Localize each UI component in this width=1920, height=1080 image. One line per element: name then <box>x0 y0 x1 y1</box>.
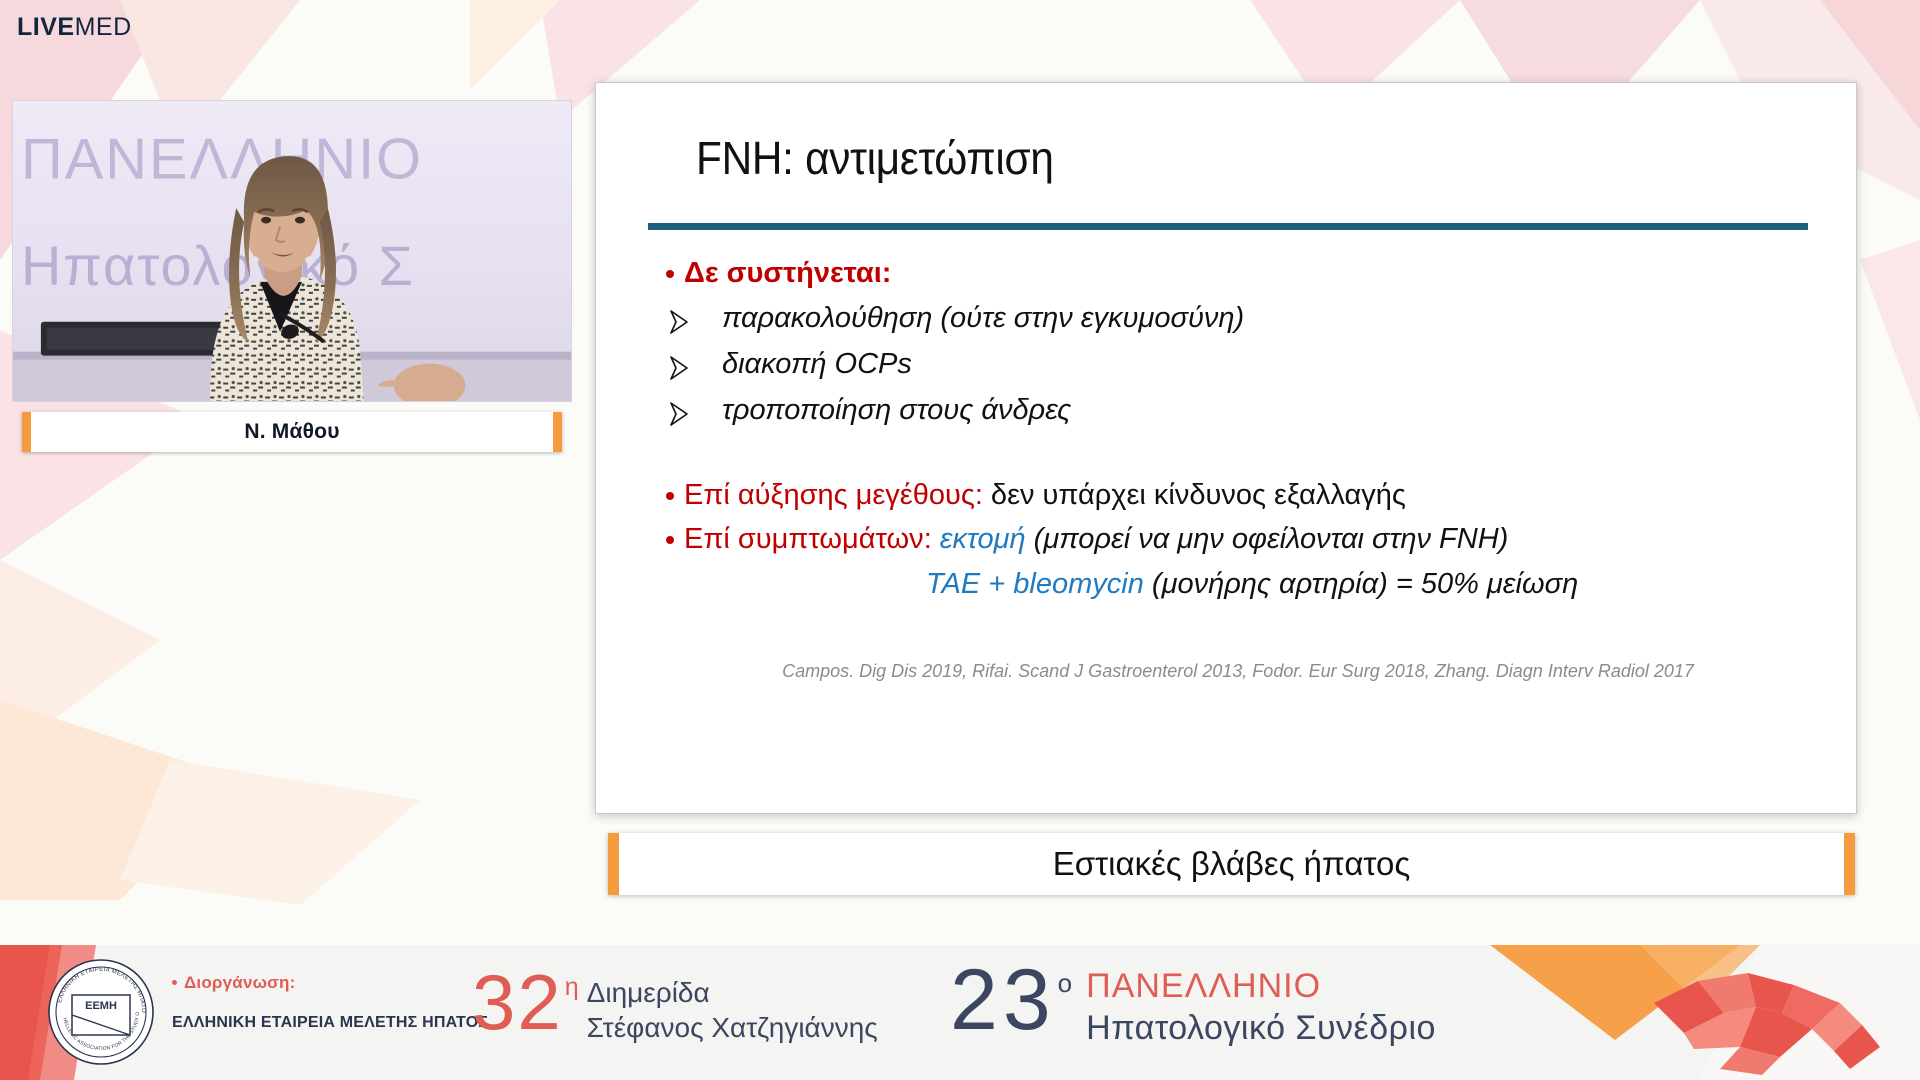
speaker-name: Ν. Μάθου <box>244 420 339 444</box>
event-32-text: Διημερίδα Στέφανος Χατζηγιάννης <box>587 975 878 1045</box>
speaker-video-frame: ΠΑΝΕΛΛΗΝΙΟ Ηπατολογικό Σ <box>13 101 571 401</box>
organizer-label: Διοργάνωση: <box>172 973 488 993</box>
speaker-nameplate: Ν. Μάθου <box>22 412 562 452</box>
brand-logo-live: LIVE <box>17 13 75 41</box>
organizer-label-text: Διοργάνωση: <box>184 973 295 992</box>
svg-text:Ηπατολογικό Σ: Ηπατολογικό Σ <box>21 234 415 297</box>
svg-text:ΕΕΜΗ: ΕΕΜΗ <box>85 1000 117 1012</box>
bullet-lead-text: Επί συμπτωμάτων <box>684 523 924 555</box>
bullet-lead-text: Επί αύξησης μεγέθους <box>684 479 975 511</box>
bullet-continuation: TAE + bleomycin (μονήρης αρτηρία) = 50% … <box>596 561 1856 607</box>
event-32-line2: Στέφανος Χατζηγιάννης <box>587 1010 878 1045</box>
organizer-block: Διοργάνωση: ΕΛΛΗΝΙΚΗ ΕΤΑΙΡΕΙΑ ΜΕΛΕΤΗΣ ΗΠ… <box>172 973 488 1032</box>
bullet-colon: : <box>882 257 892 289</box>
bullet-colon: : <box>924 523 932 555</box>
bullet-sub: τροποποίηση στους άνδρες <box>596 387 1856 433</box>
event-23-line1: ΠΑΝΕΛΛΗΝΙΟ <box>1086 965 1436 1007</box>
bullet-primary: Επί αύξησης μεγέθους: δεν υπάρχει κίνδυν… <box>596 473 1856 517</box>
bullet-rest-text: (μπορεί να μην οφείλονται στην FNH) <box>1026 523 1509 555</box>
brand-logo-med: MED <box>75 13 132 41</box>
bullet-colon: : <box>975 479 983 511</box>
event-23-number: 23 <box>950 961 1056 1040</box>
event-23-text: ΠΑΝΕΛΛΗΝΙΟ Ηπατολογικό Συνέδριο <box>1086 965 1436 1049</box>
arrow-bullet-icon <box>668 303 690 329</box>
section-banner-title: Εστιακές βλάβες ήπατος <box>1053 845 1411 883</box>
organizer-bullet-icon <box>172 980 177 985</box>
bullet-lead-text: Δε συστήνεται <box>684 257 882 289</box>
arrow-bullet-icon <box>668 395 690 421</box>
bullet-rest-text: δεν υπάρχει κίνδυνος εξαλλαγής <box>983 479 1406 511</box>
slide-citation: Campos. Dig Dis 2019, Rifai. Scand J Gas… <box>658 661 1818 682</box>
brand-logo: LIVEMED <box>17 15 132 40</box>
vertical-spacer <box>596 433 1856 473</box>
bullet-highlight-text: εκτομή <box>932 523 1026 555</box>
liver-illustration-icon <box>1644 951 1894 1076</box>
bullet-dot-icon <box>666 492 674 500</box>
event-23-superscript: ο <box>1058 968 1072 999</box>
event-23: 23 ο ΠΑΝΕΛΛΗΝΙΟ Ηπατολογικό Συνέδριο <box>950 961 1436 1049</box>
title-underline-rule <box>648 223 1808 230</box>
slide-title: FNH: αντιμετώπιση <box>696 131 1054 185</box>
continuation-highlight-text: TAE + bleomycin <box>926 568 1144 600</box>
eemh-logo: ΕΛΛΗΝΙΚΗ ΕΤΑΙΡΕΙΑ ΜΕΛΕΤΗΣ ΗΠΑΤΟΣ HELLENI… <box>46 957 156 1067</box>
organizer-name: ΕΛΛΗΝΙΚΗ ΕΤΑΙΡΕΙΑ ΜΕΛΕΤΗΣ ΗΠΑΤΟΣ <box>172 1014 488 1032</box>
presentation-slide[interactable]: FNH: αντιμετώπιση Δε συστήνεται: παρακολ… <box>595 82 1857 814</box>
conference-footer: ΕΛΛΗΝΙΚΗ ΕΤΑΙΡΕΙΑ ΜΕΛΕΤΗΣ ΗΠΑΤΟΣ HELLENI… <box>0 945 1920 1080</box>
section-banner: Εστιακές βλάβες ήπατος <box>608 833 1855 895</box>
speaker-video[interactable]: ΠΑΝΕΛΛΗΝΙΟ Ηπατολογικό Σ <box>12 100 572 402</box>
bullet-dot-icon <box>666 536 674 544</box>
bullet-sub-label: παρακολούθηση (ούτε στην εγκυμοσύνη) <box>722 302 1244 334</box>
bullet-sub: διακοπή OCPs <box>596 341 1856 387</box>
arrow-bullet-icon <box>668 349 690 375</box>
event-32-line1: Διημερίδα <box>587 975 878 1010</box>
screen-root: LIVEMED <box>0 0 1920 1080</box>
bullet-primary: Επί συμπτωμάτων: εκτομή (μπορεί να μην ο… <box>596 517 1856 561</box>
continuation-rest-text: (μονήρης αρτηρία) = 50% μείωση <box>1144 568 1578 600</box>
bullet-sub-label: τροποποίηση στους άνδρες <box>722 394 1071 426</box>
slide-body: Δε συστήνεται: παρακολούθηση (ούτε στην … <box>596 251 1856 607</box>
bullet-sub: παρακολούθηση (ούτε στην εγκυμοσύνη) <box>596 295 1856 341</box>
event-32-number: 32 <box>472 967 563 1039</box>
event-32-superscript: η <box>565 973 579 1002</box>
svg-text:ΠΑΝΕΛΛΗΝΙΟ: ΠΑΝΕΛΛΗΝΙΟ <box>21 127 423 191</box>
event-32: 32 η Διημερίδα Στέφανος Χατζηγιάννης <box>472 967 878 1045</box>
event-23-line2: Ηπατολογικό Συνέδριο <box>1086 1007 1436 1049</box>
bullet-sub-label: διακοπή OCPs <box>722 348 912 380</box>
bullet-dot-icon <box>666 270 674 278</box>
bullet-primary: Δε συστήνεται: <box>596 251 1856 295</box>
